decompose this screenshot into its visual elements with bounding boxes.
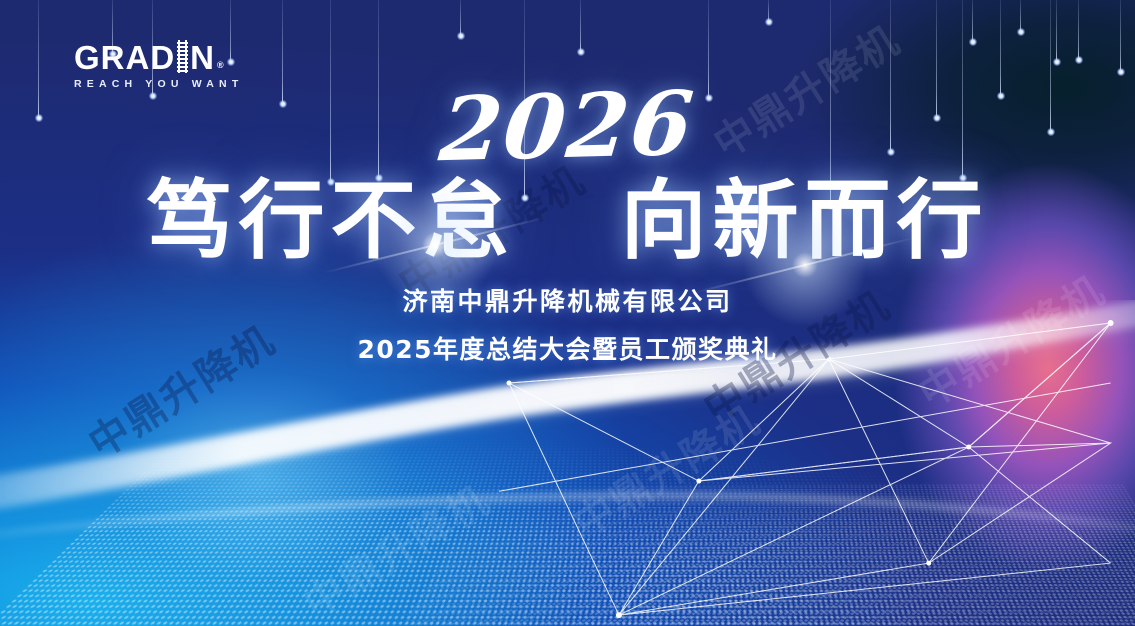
brand-name-part1: GRAD (74, 43, 175, 73)
brand-name-part2: N (190, 43, 215, 73)
event-poster: 中鼎升降机 中鼎升降机 中鼎升降机 中鼎升降机 中鼎升降机 中鼎升降机 中鼎升降… (0, 0, 1135, 626)
slogan-line: 笃行不怠 向新而行 (0, 176, 1135, 266)
watermark-text: 中鼎升降机 (561, 389, 770, 549)
brand-logo-wordmark: GRAD N ® (74, 40, 243, 73)
slogan-right: 向新而行 (620, 170, 988, 271)
company-name: 济南中鼎升降机械有限公司 (0, 282, 1135, 318)
headline-block: 2026 笃行不怠 向新而行 济南中鼎升降机械有限公司 2025年度总结大会暨员… (0, 82, 1135, 366)
registered-trademark-icon: ® (217, 60, 224, 70)
year-line: 2026 (0, 82, 1135, 170)
slogan-left: 笃行不怠 (147, 170, 515, 271)
event-title: 2025年度总结大会暨员工颁奖典礼 (0, 330, 1135, 366)
lift-mast-icon (176, 40, 189, 73)
year-text: 2026 (436, 79, 698, 174)
watermark-text: 中鼎升降机 (291, 469, 500, 626)
